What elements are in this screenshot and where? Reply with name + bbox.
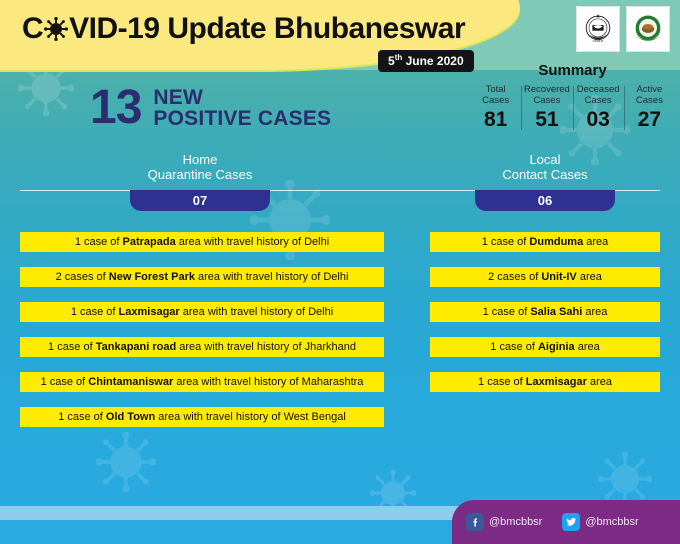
case-suffix: area with travel history of Jharkhand [176,341,356,353]
case-area: Aiginia [538,341,575,353]
title-prefix: C [22,12,43,45]
case-suffix: area [577,271,602,283]
case-prefix: 1 case of [490,341,538,353]
count-badge-home-quarantine: 07 [130,190,270,211]
summary-title: Summary [480,62,665,79]
headline: 13 NEW POSITIVE CASES [90,84,331,132]
case-prefix: 1 case of [483,306,531,318]
summary-stats: TotalCases 81 RecoveredCases 51 Deceased… [470,84,675,130]
case-area: Unit-IV [541,271,576,283]
stat-label-line1: Recovered [524,84,570,95]
stat-value: 27 [626,109,673,130]
case-prefix: 1 case of [482,236,530,248]
stat-value: 81 [472,109,519,130]
column-heading-line2: Contact Cases [502,167,587,182]
case-prefix: 1 case of [71,306,119,318]
case-suffix: area [582,306,607,318]
covid-update-poster: CVID-19 Update Bhubaneswar 5th June 2020… [0,0,680,544]
title-mid: VID-19 [69,12,159,45]
stat-label-line1: Deceased [577,84,620,95]
column-heading-local-contact: Local Contact Cases [445,152,645,182]
column-heading-home-quarantine: Home Quarantine Cases [100,152,300,182]
case-prefix: 1 case of [58,411,106,423]
facebook-link[interactable]: @bmcbbsr [466,513,542,531]
case-area: New Forest Park [109,271,195,283]
case-suffix: area [575,341,600,353]
case-chip: 2 cases of New Forest Park area with tra… [20,267,384,287]
case-suffix: area with travel history of Delhi [176,236,329,248]
headline-number: 13 [90,84,141,132]
case-area: Old Town [106,411,155,423]
stat-label-line2: Cases [533,95,560,106]
page-title: CVID-19 Update Bhubaneswar [22,14,465,44]
case-area: Chintamaniswar [88,376,173,388]
case-chip: 1 case of Laxmisagar area with travel hi… [20,302,384,322]
case-chip: 1 case of Aiginia area [430,337,660,357]
title-city: Bhubaneswar [274,12,465,45]
case-chip: 1 case of Dumduma area [430,232,660,252]
headline-line1: NEW [153,87,331,108]
case-area: Laxmisagar [526,376,587,388]
count-badge-local-contact: 06 [475,190,615,211]
case-chip: 1 case of Patrapada area with travel his… [20,232,384,252]
case-suffix: area with travel history of Delhi [180,306,333,318]
twitter-icon[interactable] [562,513,580,531]
date-day: 5 [388,54,395,68]
case-chip: 1 case of Chintamaniswar area with trave… [20,372,384,392]
bmc-emblem-icon [626,6,670,52]
case-chip: 1 case of Tankapani road area with trave… [20,337,384,357]
case-area: Dumduma [529,236,583,248]
date-badge: 5th June 2020 [378,50,474,72]
case-chip: 1 case of Old Town area with travel hist… [20,407,384,427]
case-suffix: area with travel history of Maharashtra [173,376,363,388]
column-heading-line2: Quarantine Cases [148,167,253,182]
logos: ODISHA [576,6,670,52]
date-rest: June 2020 [402,54,463,68]
case-prefix: 2 cases of [56,271,109,283]
case-prefix: 1 case of [48,341,96,353]
case-chip: 2 cases of Unit-IV area [430,267,660,287]
stat-active-cases: ActiveCases 27 [624,84,675,130]
case-chip: 1 case of Laxmisagar area [430,372,660,392]
stat-recovered-cases: RecoveredCases 51 [521,84,572,130]
stat-label-line2: Cases [482,95,509,106]
case-suffix: area [587,376,612,388]
column-heading-line1: Home [183,152,218,167]
case-prefix: 1 case of [75,236,123,248]
case-suffix: area with travel history of West Bengal [155,411,346,423]
column-headings: Home Quarantine Cases Local Contact Case… [0,152,680,222]
column-heading-line1: Local [529,152,560,167]
title-update: Update [160,12,274,45]
case-suffix: area [583,236,608,248]
facebook-handle[interactable]: @bmcbbsr [489,516,542,528]
case-chip: 1 case of Salia Sahi area [430,302,660,322]
stat-label-line2: Cases [585,95,612,106]
case-prefix: 2 cases of [488,271,541,283]
svg-text:ODISHA: ODISHA [593,39,604,43]
twitter-handle[interactable]: @bmcbbsr [585,516,638,528]
virus-motif-icon [96,432,156,492]
stat-label-line1: Active [636,84,662,95]
case-area: Salia Sahi [530,306,582,318]
case-prefix: 1 case of [478,376,526,388]
stat-value: 51 [523,109,570,130]
case-area: Tankapani road [96,341,176,353]
stat-label-line2: Cases [636,95,663,106]
stat-label-line1: Total [486,84,506,95]
case-area: Patrapada [123,236,176,248]
headline-line2: POSITIVE CASES [153,108,331,129]
facebook-icon[interactable] [466,513,484,531]
odisha-government-emblem-icon: ODISHA [576,6,620,52]
twitter-link[interactable]: @bmcbbsr [562,513,638,531]
case-suffix: area with travel history of Delhi [195,271,348,283]
footer-social-bar: @bmcbbsr @bmcbbsr [452,500,680,544]
stat-deceased-cases: DeceasedCases 03 [573,84,624,130]
stat-total-cases: TotalCases 81 [470,84,521,130]
virus-motif-icon [598,452,652,506]
case-prefix: 1 case of [41,376,89,388]
stat-value: 03 [575,109,622,130]
case-area: Laxmisagar [119,306,180,318]
virus-icon [44,17,68,41]
